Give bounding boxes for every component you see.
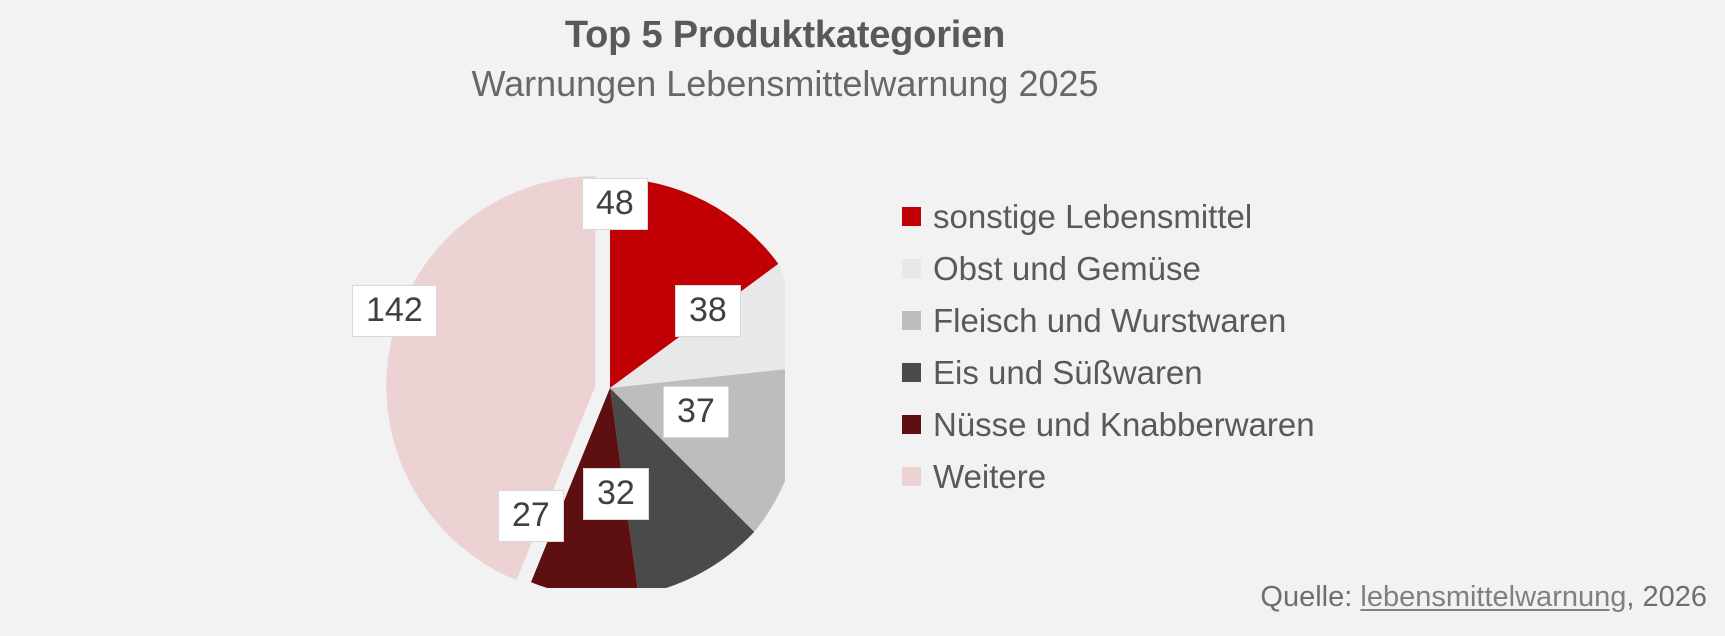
data-label-sonstige-lebensmittel: 48 [582,178,648,230]
legend-swatch-icon [902,415,921,434]
legend-swatch-icon [902,363,921,382]
legend-swatch-icon [902,467,921,486]
chart-header: Top 5 Produktkategorien Warnungen Lebens… [0,14,1570,105]
legend-swatch-icon [902,259,921,278]
pie-plot-area: 48 38 37 32 27 142 [285,128,785,588]
legend-item-label: Obst und Gemüse [933,252,1201,285]
legend-item-nuesse-und-knabberwaren[interactable]: Nüsse und Knabberwaren [902,398,1542,450]
source-note: Quelle: lebensmittelwarnung, 2026 [1260,581,1707,614]
legend-swatch-icon [902,207,921,226]
legend-item-fleisch-und-wurstwaren[interactable]: Fleisch und Wurstwaren [902,294,1542,346]
source-prefix: Quelle: [1260,581,1360,613]
data-label-weitere: 142 [352,285,437,337]
data-label-fleisch-und-wurstwaren: 37 [663,386,729,438]
legend-item-eis-und-suesswaren[interactable]: Eis und Süßwaren [902,346,1542,398]
chart-title: Top 5 Produktkategorien [0,14,1570,58]
pie-chart-figure: Top 5 Produktkategorien Warnungen Lebens… [0,0,1725,636]
source-link[interactable]: lebensmittelwarnung [1360,581,1626,613]
legend-item-label: Nüsse und Knabberwaren [933,408,1315,441]
legend-item-label: sonstige Lebensmittel [933,200,1252,233]
legend-swatch-icon [902,311,921,330]
legend-item-label: Eis und Süßwaren [933,356,1203,389]
data-label-nuesse-und-knabberwaren: 27 [498,490,564,542]
chart-subtitle: Warnungen Lebensmittelwarnung 2025 [0,62,1570,105]
legend-item-sonstige-lebensmittel[interactable]: sonstige Lebensmittel [902,190,1542,242]
data-label-obst-und-gemuese: 38 [675,285,741,337]
source-suffix: , 2026 [1626,581,1707,613]
chart-legend: sonstige Lebensmittel Obst und Gemüse Fl… [902,190,1542,502]
legend-item-obst-und-gemuese[interactable]: Obst und Gemüse [902,242,1542,294]
legend-item-label: Weitere [933,460,1046,493]
legend-item-label: Fleisch und Wurstwaren [933,304,1286,337]
pie-slices [386,176,785,588]
legend-item-weitere[interactable]: Weitere [902,450,1542,502]
data-label-eis-und-suesswaren: 32 [583,468,649,520]
